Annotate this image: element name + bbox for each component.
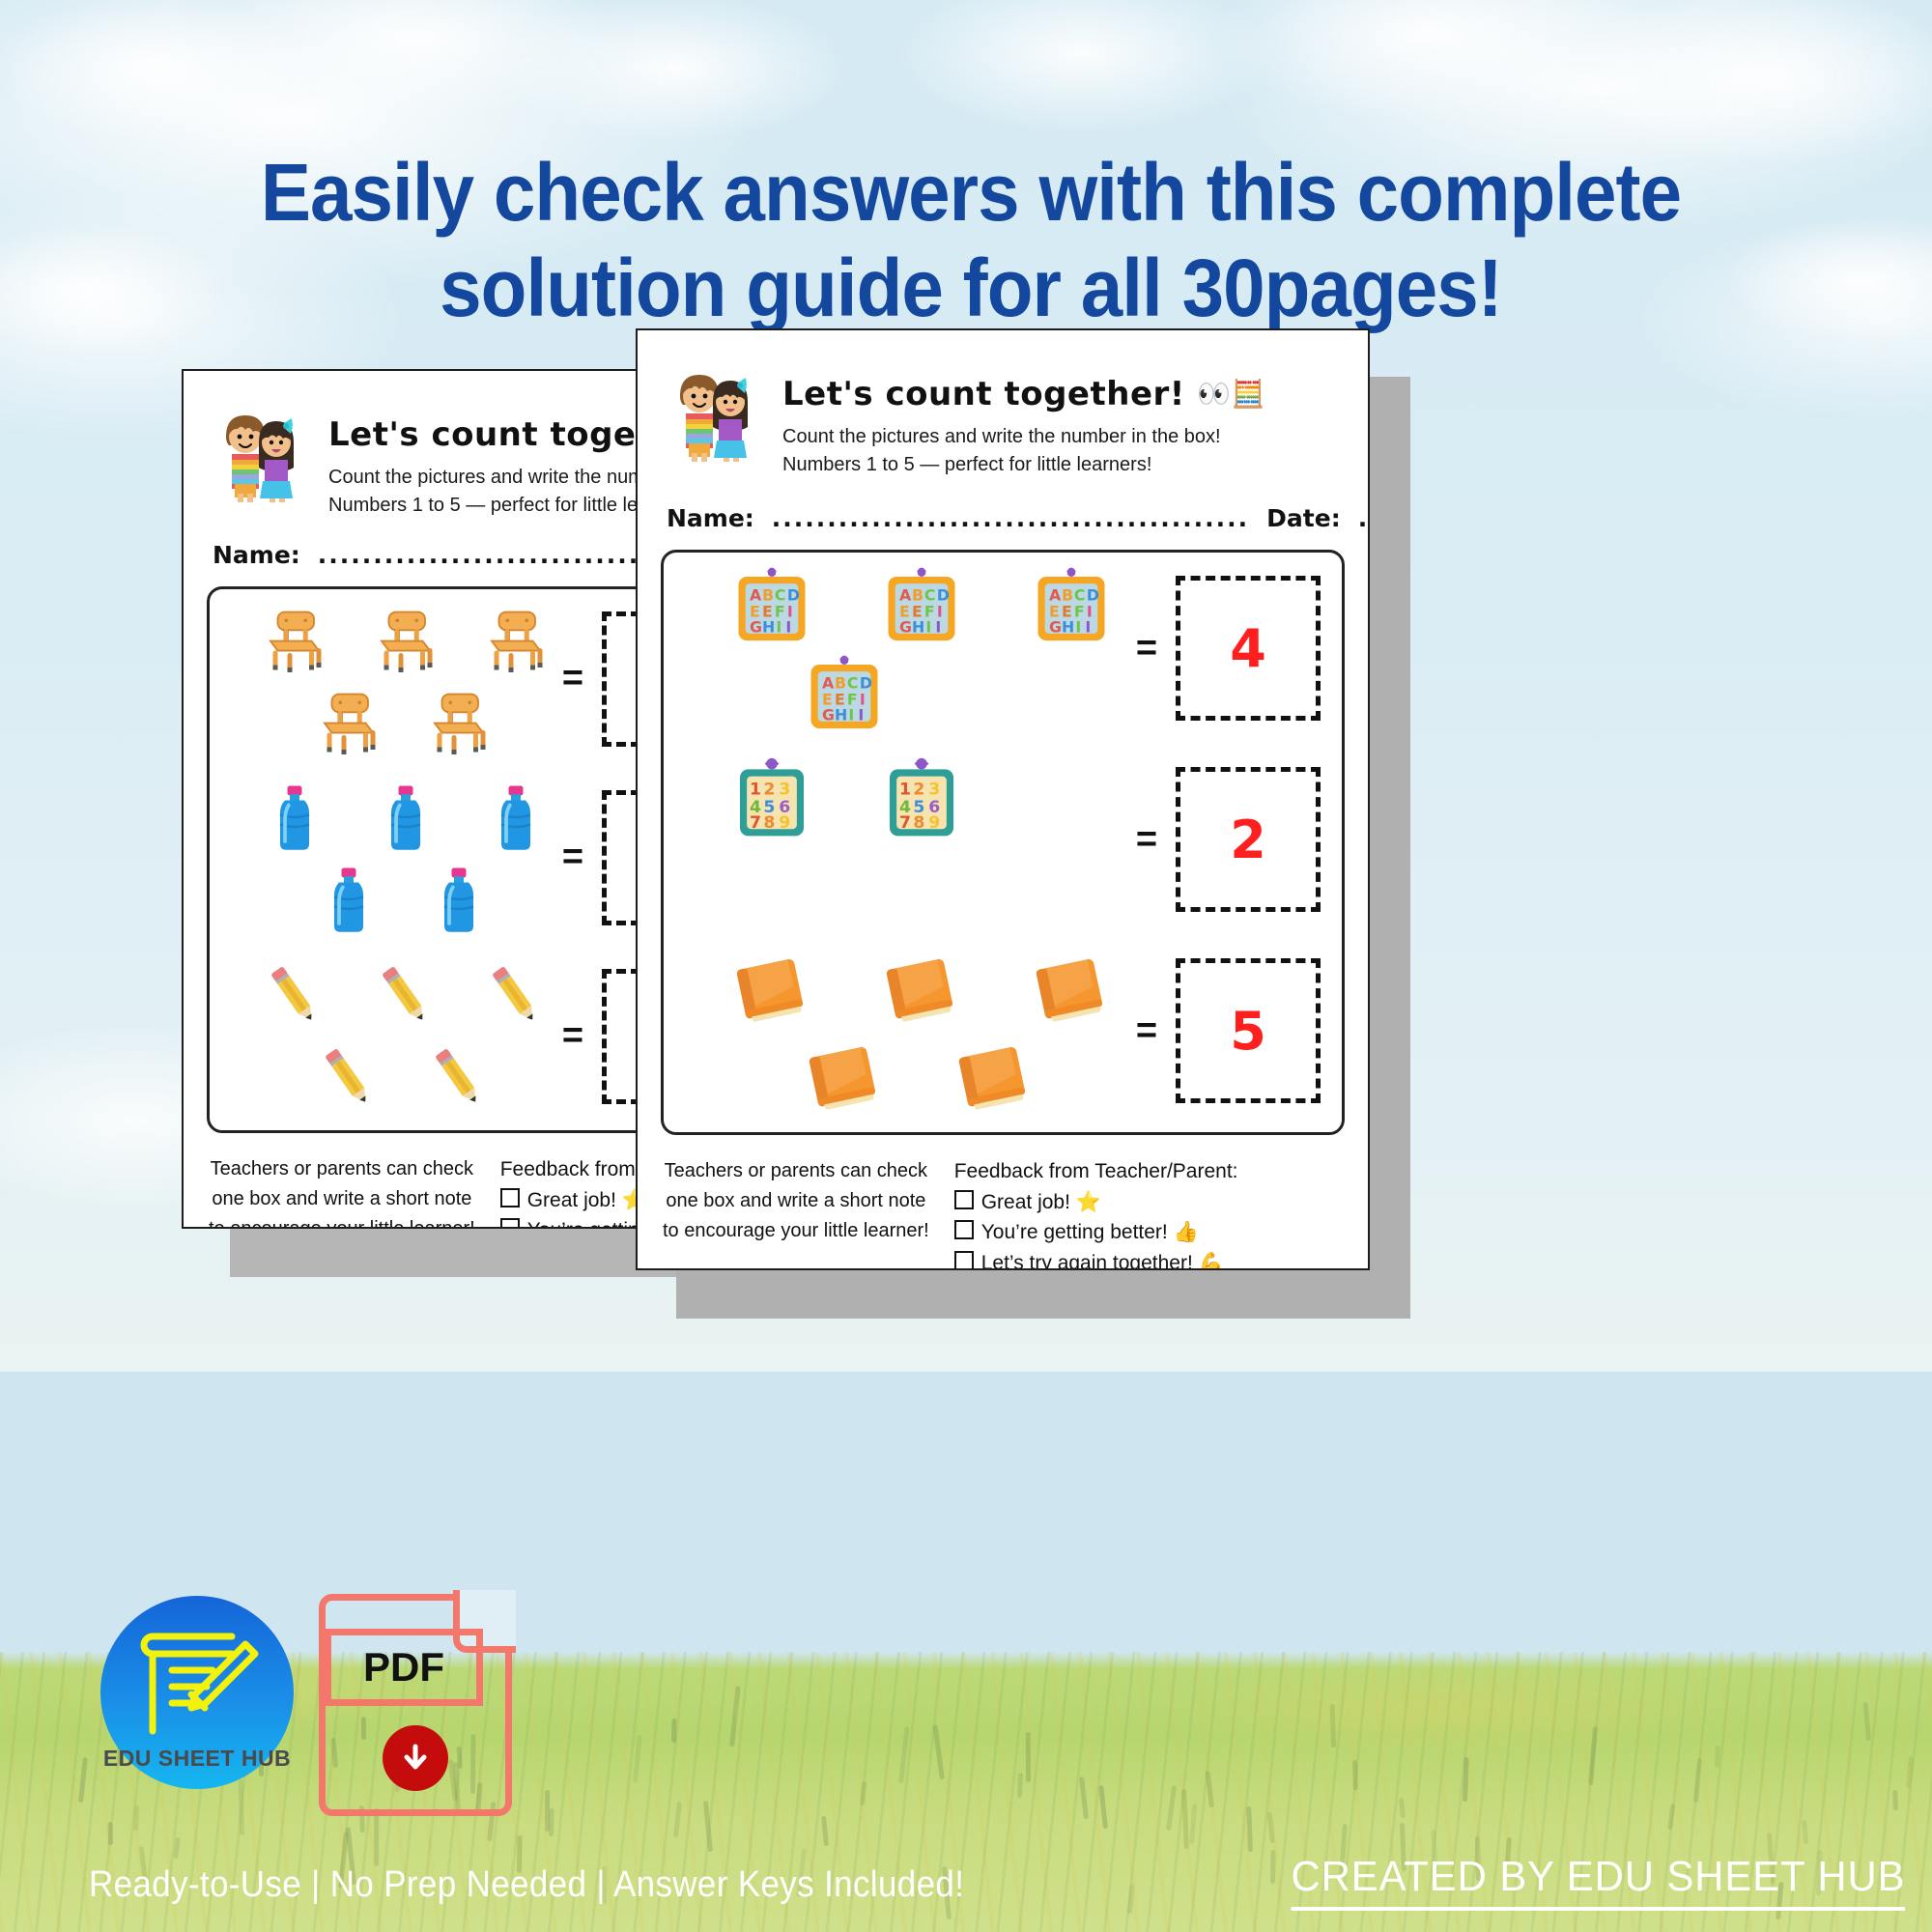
svg-text:I: I [848, 705, 854, 724]
count-item-numbers-board: 123456789 [727, 755, 816, 849]
grass-blade [1330, 1704, 1336, 1747]
item-group-abc-board: ABCDEEFIGHIIABCDEEFIGHIIABCDEEFIGHIIABCD… [664, 553, 1118, 744]
grass-blade [1181, 1789, 1189, 1849]
count-item-book [950, 1035, 1038, 1128]
front-feedback-title: Feedback from Teacher/Parent: [954, 1156, 1368, 1187]
grass-blade [173, 1837, 181, 1860]
page-headline: Easily check answers with this complete … [167, 145, 1776, 336]
feedback-emoji-icon: 👍 [1174, 1220, 1199, 1243]
grass-blade [108, 1822, 113, 1845]
front-date-label: Date: [1266, 504, 1341, 532]
item-group-chair [210, 589, 544, 768]
checkbox[interactable] [954, 1190, 974, 1209]
svg-text:H: H [835, 705, 847, 724]
download-button[interactable] [383, 1725, 448, 1791]
svg-text:H: H [762, 617, 775, 636]
grass-blade [1025, 1732, 1030, 1782]
front-exercise-panel: ABCDEEFIGHIIABCDEEFIGHIIABCDEEFIGHIIABCD… [661, 550, 1345, 1135]
exercise-row: 123456789123456789=2 [664, 744, 1342, 935]
download-arrow-icon [396, 1739, 435, 1777]
front-name-label: Name: [667, 504, 754, 532]
grass-blade [1189, 1804, 1198, 1844]
grass-blade [1398, 1798, 1405, 1818]
equals-sign: = [1118, 628, 1176, 669]
svg-text:I: I [925, 617, 931, 636]
svg-text:8: 8 [913, 813, 924, 833]
count-item-numbers-board: 123456789 [877, 755, 966, 849]
svg-text:7: 7 [750, 813, 761, 833]
front-instruction-2: Numbers 1 to 5 — perfect for little lear… [782, 451, 1265, 479]
count-item-book [727, 947, 816, 1040]
headline-line-1: Easily check answers with this complete [261, 147, 1681, 238]
svg-text:C: C [1074, 585, 1086, 604]
front-worksheet-answer-key[interactable]: KEY [636, 328, 1370, 1270]
svg-text:C: C [924, 585, 936, 604]
front-worksheet-header: Let's count together! 👀🧮 Count the pictu… [638, 330, 1368, 479]
svg-text:A: A [1049, 585, 1062, 604]
svg-text:1: 1 [899, 780, 911, 799]
svg-text:B: B [912, 585, 923, 604]
back-name-field[interactable]: ............................. [318, 541, 639, 569]
grass-blade [933, 1724, 946, 1779]
grass-blade [545, 1790, 550, 1832]
front-footer-note-3: to encourage your little learner! [663, 1216, 929, 1246]
svg-text:3: 3 [779, 780, 790, 799]
grass-blade [673, 1802, 682, 1837]
checkbox[interactable] [954, 1220, 974, 1239]
svg-text:7: 7 [899, 813, 911, 833]
count-item-pencil [256, 957, 333, 1039]
answer-box[interactable]: 2 [1176, 767, 1321, 912]
grass-blade [1588, 1726, 1598, 1786]
count-item-book [1027, 947, 1116, 1040]
svg-text:D: D [787, 585, 800, 604]
feedback-option[interactable]: Let’s try again together! 💪 [954, 1248, 1368, 1269]
answer-value: 5 [1230, 1001, 1266, 1062]
back-footer-note-2: one box and write a short note [209, 1184, 475, 1214]
grass-blade [671, 1719, 677, 1743]
count-item-chair [310, 682, 387, 764]
count-item-abc-board: ABCDEEFIGHII [800, 652, 889, 746]
front-worksheet-footer: Teachers or parents can check one box an… [638, 1135, 1368, 1268]
count-item-book [877, 947, 966, 1040]
count-item-pencil [310, 1039, 387, 1122]
item-group-book [664, 935, 1118, 1126]
brand-logo: EDU SHEET HUB [100, 1596, 294, 1789]
feedback-option[interactable]: You’re getting better! 👍 [954, 1217, 1368, 1248]
front-name-date-page-row: Name: ..................................… [638, 479, 1368, 534]
svg-text:2: 2 [913, 780, 924, 799]
svg-text:H: H [912, 617, 924, 636]
svg-text:B: B [762, 585, 774, 604]
grass-blade [1017, 1773, 1023, 1798]
grass-blade [1667, 1804, 1675, 1830]
pdf-label: PDF [325, 1629, 483, 1706]
front-date-field[interactable]: ........................... [1358, 504, 1368, 532]
svg-text:G: G [1049, 617, 1062, 636]
svg-text:I: I [785, 617, 791, 636]
footer-tagline: Ready-to-Use | No Prep Needed | Answer K… [89, 1864, 964, 1906]
svg-text:I: I [858, 705, 864, 724]
grass-blade [1906, 1756, 1914, 1788]
kids-illustration-icon [663, 355, 769, 462]
svg-text:8: 8 [763, 813, 775, 833]
exercise-row: =5 [664, 935, 1342, 1126]
feedback-option-label: Great job! [527, 1189, 622, 1211]
count-item-abc-board: ABCDEEFIGHII [727, 564, 816, 658]
grass-blade [1802, 1820, 1808, 1844]
svg-text:B: B [1062, 585, 1073, 604]
grass-blade [1166, 1785, 1177, 1832]
count-item-pencil [477, 957, 554, 1039]
grass-blade [1270, 1850, 1276, 1884]
svg-text:D: D [860, 673, 872, 692]
back-footer-note-3: to encourage your little learner! [209, 1214, 475, 1227]
count-item-bottle [420, 861, 497, 943]
svg-text:D: D [1087, 585, 1099, 604]
grass-blade [702, 1801, 712, 1852]
abacus-icon: 🧮 [1232, 378, 1265, 410]
exercise-row: ABCDEEFIGHIIABCDEEFIGHIIABCDEEFIGHIIABCD… [664, 553, 1342, 744]
item-group-numbers-board: 123456789123456789 [664, 744, 1118, 935]
svg-text:9: 9 [928, 813, 940, 833]
svg-text:2: 2 [763, 780, 775, 799]
grass-blade [549, 1808, 554, 1836]
front-footer-note-2: one box and write a short note [663, 1186, 929, 1216]
grass-blade [1266, 1812, 1275, 1844]
grass-blade [633, 1735, 642, 1782]
count-item-abc-board: ABCDEEFIGHII [1027, 564, 1116, 658]
grass-blade [78, 1757, 88, 1803]
front-title-text: Let's count together! [782, 375, 1185, 413]
svg-text:1: 1 [750, 780, 761, 799]
svg-text:A: A [750, 585, 762, 604]
grass-blade [898, 1726, 910, 1783]
grass-blade [1463, 1757, 1469, 1802]
feedback-emoji-icon: 💪 [1199, 1251, 1224, 1269]
svg-text:C: C [775, 585, 786, 604]
count-item-pencil [367, 957, 444, 1039]
back-footer-note-1: Teachers or parents can check [209, 1154, 475, 1184]
feedback-option-label: Great job! [981, 1191, 1076, 1213]
answer-value: 2 [1230, 810, 1266, 870]
count-item-chair [367, 600, 444, 682]
front-instruction-1: Count the pictures and write the number … [782, 423, 1265, 451]
svg-text:G: G [750, 617, 762, 636]
front-worksheet-instructions: Count the pictures and write the number … [782, 423, 1265, 479]
grass-blade [860, 1780, 867, 1805]
grass-blade [1892, 1790, 1898, 1810]
answer-box[interactable]: 4 [1176, 576, 1321, 721]
item-group-bottle [210, 768, 544, 947]
grass-blade [1206, 1771, 1214, 1808]
count-item-chair [256, 600, 333, 682]
answer-value: 4 [1230, 618, 1266, 679]
svg-text:I: I [1085, 617, 1091, 636]
svg-text:G: G [822, 705, 835, 724]
grass-blade [1693, 1758, 1702, 1803]
svg-text:H: H [1062, 617, 1074, 636]
count-item-book [800, 1035, 889, 1128]
svg-text:I: I [935, 617, 941, 636]
headline-line-2: solution guide for all 30pages! [167, 241, 1776, 336]
grass-blade [374, 1808, 379, 1866]
document-pencil-icon [131, 1617, 267, 1743]
checkbox[interactable] [500, 1218, 520, 1227]
svg-text:3: 3 [928, 780, 940, 799]
grass-blade [1079, 1776, 1089, 1820]
checkbox[interactable] [954, 1251, 974, 1269]
back-name-label: Name: [213, 541, 300, 569]
svg-text:A: A [822, 673, 835, 692]
front-footer-note: Teachers or parents can check one box an… [663, 1156, 929, 1268]
logo-text: EDU SHEET HUB [100, 1746, 294, 1772]
grass-blade [1246, 1806, 1253, 1852]
svg-text:I: I [776, 617, 781, 636]
checkbox[interactable] [500, 1188, 520, 1207]
grass-blade [1352, 1760, 1358, 1790]
svg-text:D: D [937, 585, 950, 604]
feedback-option-label: Let’s try again together! [981, 1252, 1199, 1269]
svg-text:C: C [847, 673, 859, 692]
count-item-chair [477, 600, 554, 682]
grass-blade [1715, 1745, 1720, 1767]
grass-blade [1127, 1885, 1135, 1915]
count-item-bottle [367, 779, 444, 861]
pdf-badge[interactable]: PDF [319, 1594, 512, 1816]
svg-text:9: 9 [779, 813, 790, 833]
svg-text:G: G [899, 617, 912, 636]
front-worksheet-title: Let's count together! 👀🧮 [782, 375, 1265, 413]
count-item-pencil [420, 1039, 497, 1122]
answer-box[interactable]: 5 [1176, 958, 1321, 1103]
back-footer-note: Teachers or parents can check one box an… [209, 1154, 475, 1227]
equals-sign: = [1118, 819, 1176, 861]
grass-blade [133, 1805, 139, 1831]
count-item-chair [420, 682, 497, 764]
svg-text:A: A [899, 585, 912, 604]
equals-sign: = [1118, 1010, 1176, 1052]
front-footer-note-1: Teachers or parents can check [663, 1156, 929, 1186]
eyes-icon: 👀 [1197, 378, 1231, 410]
front-name-field[interactable]: ........................................… [772, 504, 1249, 532]
grass-blade [1863, 1702, 1871, 1742]
grass-blade [1099, 1785, 1109, 1829]
count-item-abc-board: ABCDEEFIGHII [877, 564, 966, 658]
count-item-bottle [310, 861, 387, 943]
footer-credit: CREATED BY EDU SHEET HUB [1291, 1853, 1905, 1911]
grass-blade [821, 1816, 829, 1847]
feedback-emoji-icon: ⭐ [1076, 1190, 1101, 1213]
feedback-option[interactable]: Great job! ⭐ [954, 1187, 1368, 1218]
kids-illustration-icon [209, 396, 315, 502]
svg-text:B: B [835, 673, 846, 692]
svg-text:I: I [1075, 617, 1081, 636]
grass-blade [729, 1686, 741, 1747]
feedback-option-label: You’re getting better! [981, 1221, 1174, 1243]
front-feedback-section: Feedback from Teacher/Parent: Great job!… [954, 1156, 1368, 1268]
item-group-pencil [210, 947, 544, 1125]
count-item-bottle [477, 779, 554, 861]
count-item-bottle [256, 779, 333, 861]
